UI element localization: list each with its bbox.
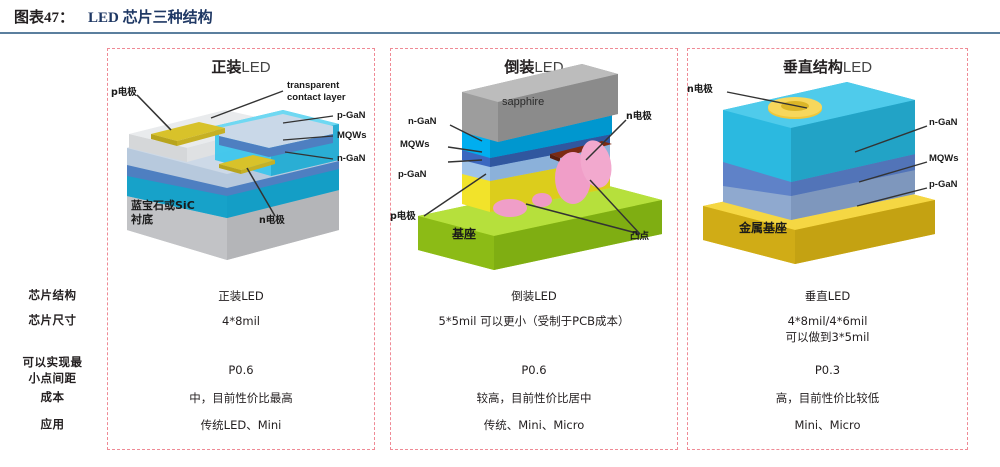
label-mqws: MQWs: [400, 140, 430, 151]
cell-col1-structure: 正装LED: [107, 288, 375, 304]
figure-number: 图表47：: [14, 10, 74, 26]
label-p-electrode: p电极: [390, 212, 416, 223]
cell-col1-application: 传统LED、Mini: [107, 417, 375, 433]
label-n-electrode: n电极: [259, 216, 285, 227]
row-label-cost: 成本: [0, 390, 105, 406]
cell-col3-min-pitch: P0.3: [687, 362, 968, 378]
figure-title-text: LED 芯片三种结构: [88, 10, 213, 26]
cell-col3-size: 4*8mil/4*6mil 可以做到3*5mil: [687, 313, 968, 345]
label-metal-base: 金属基座: [739, 222, 787, 236]
cell-col3-application: Mini、Micro: [687, 417, 968, 433]
row-label-min-pitch-line2: 小点间距: [0, 371, 105, 387]
label-n-electrode: n电极: [626, 112, 652, 123]
label-transparent-contact-line1: transparent: [287, 81, 339, 92]
label-n-electrode: n电极: [687, 85, 713, 96]
row-label-application: 应用: [0, 417, 105, 433]
figure-header: 图表47：LED 芯片三种结构: [0, 0, 1000, 34]
row-label-application-text: 应用: [41, 417, 65, 431]
cell-col2-min-pitch: P0.6: [390, 362, 678, 378]
label-mqws: MQWs: [929, 154, 959, 165]
cell-col2-size: 5*5mil 可以更小（受制于PCB成本）: [390, 313, 678, 329]
label-n-gan: n-GaN: [337, 154, 366, 165]
cell-col1-cost: 中，目前性价比最高: [107, 390, 375, 406]
row-label-min-pitch: 可以实现最 小点间距: [0, 355, 105, 386]
cell-col1-min-pitch: P0.6: [107, 362, 375, 378]
cell-col3-size-line2: 可以做到3*5mil: [687, 329, 968, 345]
cell-col1-size: 4*8mil: [107, 313, 375, 329]
diagram-2-graphic: [390, 48, 678, 284]
cell-col3-size-line1: 4*8mil/4*6mil: [687, 313, 968, 329]
row-label-size: 芯片尺寸: [0, 313, 105, 329]
diagram-flipchip-led: 倒装LED: [390, 48, 678, 284]
label-p-gan: p-GaN: [337, 111, 366, 122]
label-substrate-line1: 蓝宝石或SiC: [131, 200, 195, 213]
label-sapphire: sapphire: [502, 96, 544, 109]
header-divider: [0, 32, 1000, 34]
diagram-upright-led: 正装LED: [107, 48, 375, 284]
label-bumps: 凸点: [630, 232, 649, 243]
row-label-min-pitch-line1: 可以实现最: [0, 355, 105, 371]
page-title: 图表47：LED 芯片三种结构: [14, 6, 213, 27]
diagram-vertical-led: 垂直结构LED n电极 n-GaN MQWs p-GaN 金属基座: [687, 48, 968, 284]
diagram-3-graphic: [687, 48, 968, 284]
label-p-gan: p-GaN: [929, 180, 958, 191]
cell-col3-cost: 高，目前性价比较低: [687, 390, 968, 406]
label-n-gan: n-GaN: [408, 117, 437, 128]
cell-col2-application: 传统、Mini、Micro: [390, 417, 678, 433]
label-substrate-line2: 衬底: [131, 214, 153, 227]
label-mqws: MQWs: [337, 131, 367, 142]
row-label-cost-text: 成本: [41, 390, 65, 404]
row-label-structure-text: 芯片结构: [29, 288, 77, 302]
cell-col2-structure: 倒装LED: [390, 288, 678, 304]
row-label-structure: 芯片结构: [0, 288, 105, 304]
label-submount: 基座: [452, 228, 476, 242]
row-label-size-text: 芯片尺寸: [29, 313, 77, 327]
cell-col2-cost: 较高，目前性价比居中: [390, 390, 678, 406]
label-n-gan: n-GaN: [929, 118, 958, 129]
cell-col3-structure: 垂直LED: [687, 288, 968, 304]
label-transparent-contact-line2: contact layer: [287, 93, 346, 104]
label-p-gan: p-GaN: [398, 170, 427, 181]
label-p-electrode: p电极: [111, 88, 137, 99]
